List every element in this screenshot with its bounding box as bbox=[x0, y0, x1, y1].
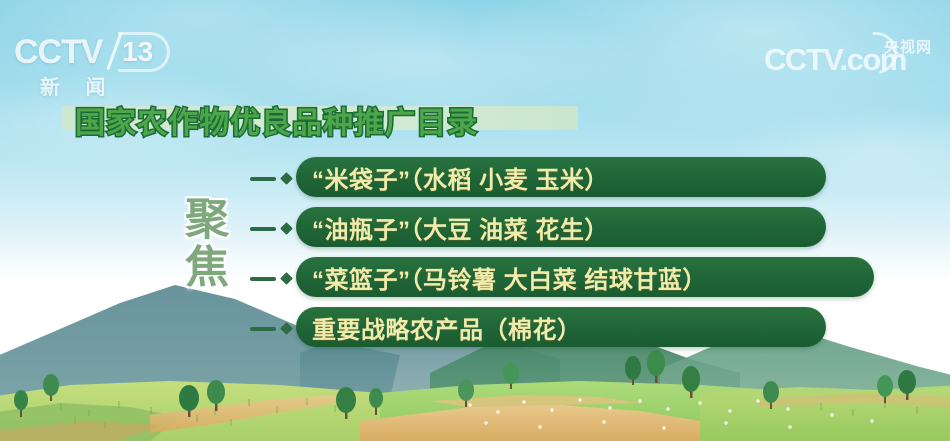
diamond-icon bbox=[280, 272, 293, 285]
category-pill-4: 重要战略农产品（棉花） bbox=[296, 307, 826, 347]
category-list: “米袋子”（水稻 小麦 玉米） “油瓶子”（大豆 油菜 花生） “菜篮子”（马铃… bbox=[250, 157, 850, 357]
bullet-marker-icon bbox=[250, 171, 296, 187]
cctv-com-watermark: CCTV.com 央视网 bbox=[764, 34, 936, 80]
broadcast-screen: CCTV 13 新 闻 CCTV.com 央视网 国家农作物优良品种推广目录 聚… bbox=[0, 0, 950, 441]
cctv13-channel-logo: CCTV 13 新 闻 bbox=[14, 33, 164, 91]
list-item: 重要战略农产品（棉花） bbox=[250, 307, 850, 357]
diamond-icon bbox=[280, 222, 293, 235]
channel-name-label: 新 闻 bbox=[40, 71, 116, 100]
focus-vertical-label: 聚 焦 bbox=[176, 196, 238, 291]
category-label-1: “米袋子”（水稻 小麦 玉米） bbox=[296, 160, 609, 195]
category-label-4: 重要战略农产品（棉花） bbox=[296, 310, 582, 345]
list-item: “米袋子”（水稻 小麦 玉米） bbox=[250, 157, 850, 207]
bullet-marker-icon bbox=[250, 321, 296, 337]
bullet-marker-icon bbox=[250, 221, 296, 237]
channel-number: 13 bbox=[122, 36, 153, 68]
focus-char-1: 聚 bbox=[176, 196, 238, 244]
watermark-site-cn: 央视网 bbox=[884, 36, 932, 57]
category-pill-1: “米袋子”（水稻 小麦 玉米） bbox=[296, 157, 826, 197]
diamond-icon bbox=[280, 172, 293, 185]
dash-icon bbox=[250, 227, 276, 231]
list-item: “菜篮子”（马铃薯 大白菜 结球甘蓝） bbox=[250, 257, 850, 307]
dash-icon bbox=[250, 177, 276, 181]
category-label-2: “油瓶子”（大豆 油菜 花生） bbox=[296, 210, 609, 245]
title-text: 国家农作物优良品种推广目录 bbox=[75, 98, 478, 142]
diamond-icon bbox=[280, 322, 293, 335]
cctv-wordmark: CCTV bbox=[14, 33, 103, 72]
category-pill-2: “油瓶子”（大豆 油菜 花生） bbox=[296, 207, 826, 247]
bullet-marker-icon bbox=[250, 271, 296, 287]
category-label-3: “菜篮子”（马铃薯 大白菜 结球甘蓝） bbox=[296, 260, 707, 295]
dash-icon bbox=[250, 277, 276, 281]
focus-char-2: 焦 bbox=[176, 244, 238, 292]
category-pill-3: “菜篮子”（马铃薯 大白菜 结球甘蓝） bbox=[296, 257, 874, 297]
dash-icon bbox=[250, 327, 276, 331]
list-item: “油瓶子”（大豆 油菜 花生） bbox=[250, 207, 850, 257]
